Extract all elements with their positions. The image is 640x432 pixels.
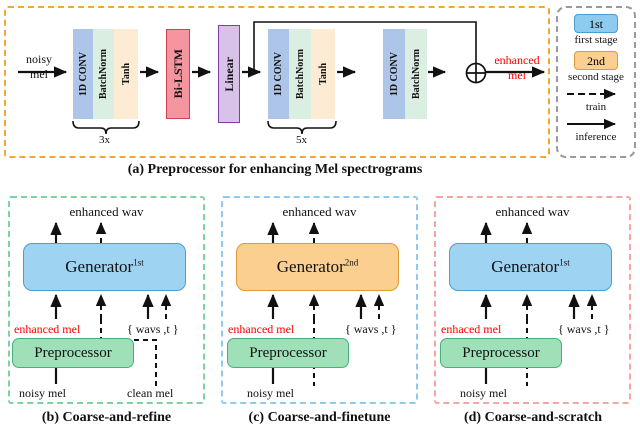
panel-d-preprocessor-box: Preprocessor bbox=[440, 338, 562, 368]
panel-c-caption: (c) Coarse-and-finetune bbox=[213, 410, 426, 426]
panel-b-clean-mel-label: clean mel bbox=[127, 386, 173, 401]
panel-b-preprocessor-box: Preprocessor bbox=[12, 338, 134, 368]
output-arrow bbox=[486, 66, 552, 80]
block-linear: Linear bbox=[218, 25, 240, 123]
arrow-to-bilstm bbox=[140, 66, 166, 80]
legend-label-inference: inference bbox=[576, 131, 617, 143]
block-bi-lstm: Bi-LSTM bbox=[166, 29, 190, 119]
legend-label-second-stage: second stage bbox=[568, 71, 624, 83]
panel-d-noisy-mel-label: noisy mel bbox=[460, 386, 507, 401]
panel-d-caption: (d) Coarse-and-scratch bbox=[426, 410, 640, 426]
panel-d-output-arrows bbox=[434, 219, 631, 245]
block-batchnorm-3: BatchNorm bbox=[405, 29, 427, 119]
block-1d-conv-1: 1D CONV bbox=[73, 29, 93, 119]
panel-d-generator-box: Generator1st bbox=[449, 243, 612, 291]
panel-c-output-label: enhanced wav bbox=[221, 204, 418, 220]
arrow-to-conv3 bbox=[337, 66, 363, 80]
panel-b-noisy-mel-label: noisy mel bbox=[19, 386, 66, 401]
panel-c-preprocessor-box: Preprocessor bbox=[227, 338, 349, 368]
panel-d-output-label: enhanced wav bbox=[434, 204, 631, 220]
panel-b-generator-box: Generator1st bbox=[23, 243, 186, 291]
panel-c-noisy-mel-label: noisy mel bbox=[247, 386, 294, 401]
block-1d-conv-3: 1D CONV bbox=[383, 29, 405, 119]
panel-b-output-arrows bbox=[8, 219, 205, 245]
legend-box: 1st first stage 2nd second stage train i… bbox=[556, 6, 636, 158]
panel-c-output-arrows bbox=[221, 219, 418, 245]
repeat-label-5x: 5x bbox=[296, 134, 307, 146]
legend-label-first-stage: first stage bbox=[574, 34, 617, 46]
panel-b-caption: (b) Coarse-and-refine bbox=[0, 410, 213, 426]
block-tanh-2: Tanh bbox=[311, 29, 335, 119]
legend-chip-first-stage: 1st bbox=[574, 14, 618, 33]
repeat-label-3x: 3x bbox=[99, 134, 110, 146]
legend-label-train: train bbox=[586, 101, 606, 113]
panel-b-output-label: enhanced wav bbox=[8, 204, 205, 220]
block-1d-conv-2: 1D CONV bbox=[268, 29, 289, 119]
legend-solid-arrow-icon bbox=[565, 118, 627, 130]
panel-d-generator-input-arrows bbox=[434, 291, 631, 321]
block-batchnorm-2: BatchNorm bbox=[289, 29, 311, 119]
legend-dashed-arrow-icon bbox=[565, 88, 627, 100]
panel-c-generator-input-arrows bbox=[221, 291, 418, 321]
arrow-to-linear bbox=[192, 66, 218, 80]
block-tanh-1: Tanh bbox=[114, 29, 138, 119]
panel-c-generator-box: Generator2nd bbox=[236, 243, 399, 291]
arrow-to-adder bbox=[428, 66, 454, 80]
panel-a-caption: (a) Preprocessor for enhancing Mel spect… bbox=[0, 162, 550, 178]
block-batchnorm-1: BatchNorm bbox=[93, 29, 114, 119]
input-arrow bbox=[18, 66, 74, 80]
panel-b-generator-input-arrows bbox=[8, 291, 205, 321]
legend-chip-second-stage: 2nd bbox=[574, 51, 618, 70]
